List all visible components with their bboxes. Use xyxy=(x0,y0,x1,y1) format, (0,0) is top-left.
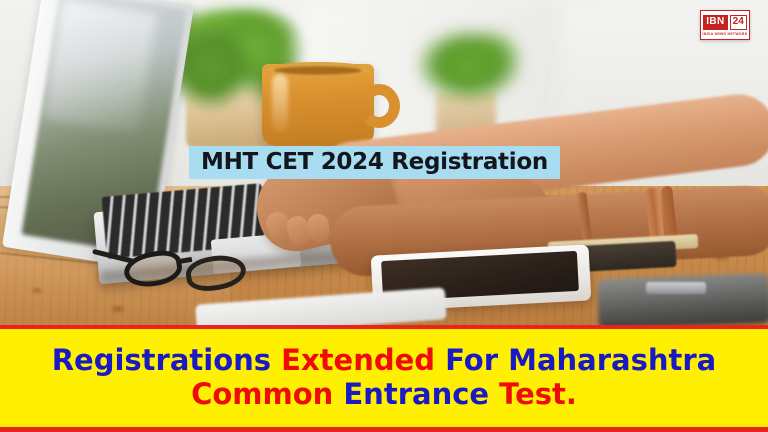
coffee-mug-handle xyxy=(358,84,400,128)
logo-24-text: 24 xyxy=(730,15,747,30)
coffee-mug-highlight xyxy=(272,74,288,132)
logo-tagline: INDIA NEWS NETWORK xyxy=(703,32,748,36)
potted-plant-back-leaves xyxy=(414,26,524,104)
caption-word-test: Test. xyxy=(499,377,577,411)
logo-ibn-text: IBN xyxy=(703,15,727,30)
headline-banner: MHT CET 2024 Registration xyxy=(189,146,560,179)
headline-banner-text: MHT CET 2024 Registration xyxy=(201,151,548,174)
ibn24-logo[interactable]: IBN 24 INDIA NEWS NETWORK xyxy=(700,10,750,40)
finger xyxy=(307,213,331,243)
caption-word-common: Common xyxy=(191,377,343,411)
laptop-display-reflection xyxy=(43,0,157,133)
desk-object-bottom-right xyxy=(597,273,768,325)
caption-word-entrance: Entrance xyxy=(343,377,499,411)
caption-bar: Registrations Extended For Maharashtra C… xyxy=(0,325,768,432)
metal-clip xyxy=(646,282,706,294)
hero-photo: IBN 24 INDIA NEWS NETWORK MHT CET 2024 R… xyxy=(0,0,768,325)
news-thumbnail-screen: IBN 24 INDIA NEWS NETWORK MHT CET 2024 R… xyxy=(0,0,768,432)
coffee-mug-interior xyxy=(274,66,362,75)
caption-line-2: Common Entrance Test. xyxy=(191,378,577,412)
caption-word-extended: Extended xyxy=(281,343,445,377)
caption-word-registrations: Registrations xyxy=(52,343,281,377)
caption-line-1: Registrations Extended For Maharashtra xyxy=(52,344,717,378)
logo-mark-row: IBN 24 xyxy=(703,15,747,30)
desk-grain-knot xyxy=(32,288,42,293)
caption-word-for-maharashtra: For Maharashtra xyxy=(445,343,716,377)
desk-grain-knot xyxy=(112,306,124,312)
